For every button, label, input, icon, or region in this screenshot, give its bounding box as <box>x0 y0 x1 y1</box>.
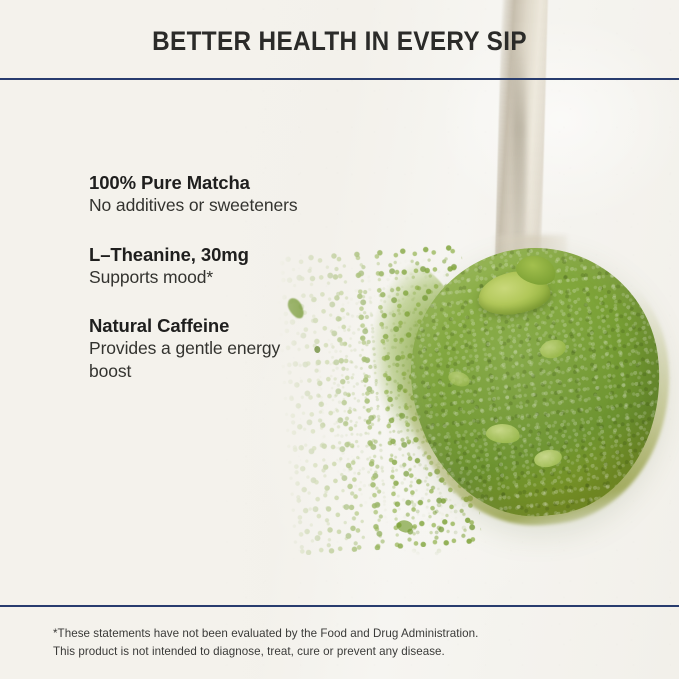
divider-bottom <box>0 605 679 607</box>
feature-item-natural-caffeine: Natural Caffeine Provides a gentle energ… <box>89 315 304 382</box>
page-title: BETTER HEALTH IN EVERY SIP <box>34 26 645 57</box>
feature-item-l-theanine: L–Theanine, 30mg Supports mood* <box>89 244 304 289</box>
feature-list: 100% Pure Matcha No additives or sweeten… <box>89 172 304 382</box>
feature-title: 100% Pure Matcha <box>89 172 304 194</box>
feature-title: L–Theanine, 30mg <box>89 244 304 266</box>
product-infographic: BETTER HEALTH IN EVERY SIP 100% Pure Mat… <box>0 0 679 679</box>
divider-top <box>0 78 679 80</box>
feature-description: Provides a gentle energy boost <box>89 337 304 382</box>
feature-description: No additives or sweeteners <box>89 194 304 217</box>
legal-disclaimer: *These statements have not been evaluate… <box>53 625 633 660</box>
feature-description: Supports mood* <box>89 266 304 289</box>
disclaimer-line-1: *These statements have not been evaluate… <box>53 625 633 643</box>
feature-title: Natural Caffeine <box>89 315 304 337</box>
powder-scatter-tail <box>404 498 494 584</box>
feature-item-pure-matcha: 100% Pure Matcha No additives or sweeten… <box>89 172 304 217</box>
disclaimer-line-2: This product is not intended to diagnose… <box>53 643 633 661</box>
